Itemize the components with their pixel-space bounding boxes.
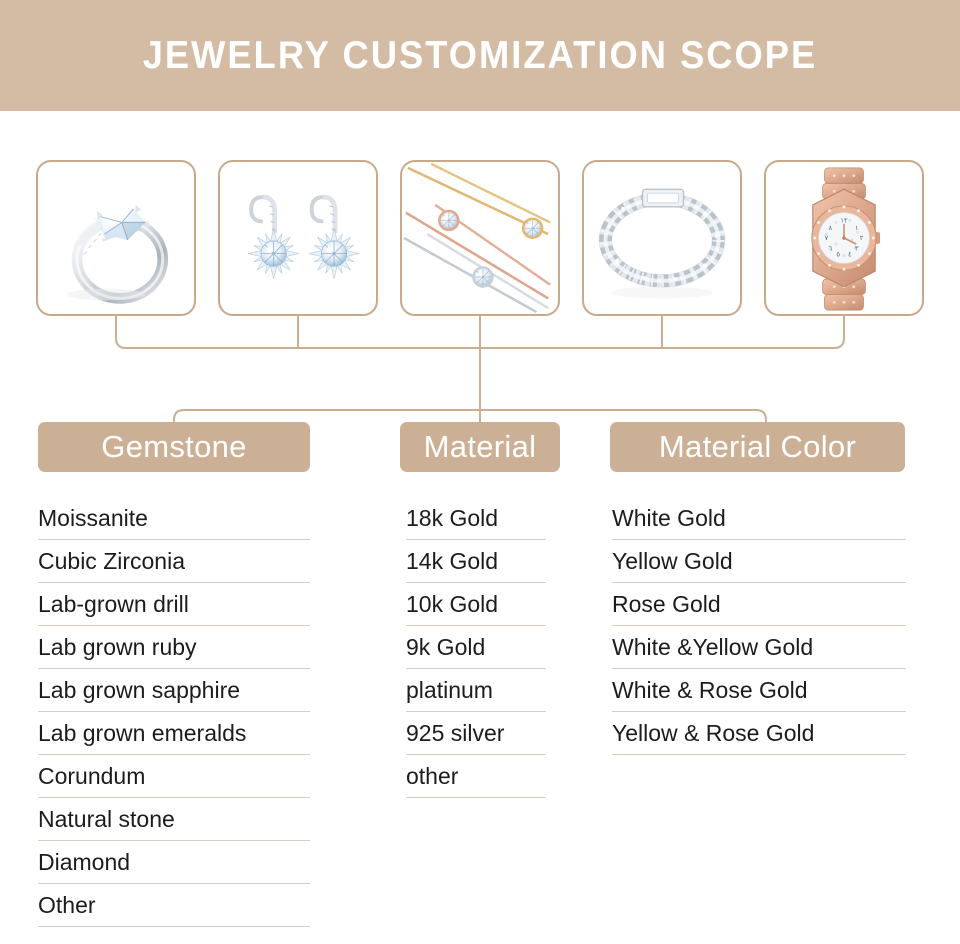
option-item[interactable]: 925 silver — [406, 712, 546, 755]
option-item[interactable]: Corundum — [38, 755, 310, 798]
option-item[interactable]: Yellow Gold — [612, 540, 906, 583]
svg-text:٤: ٤ — [848, 251, 852, 259]
option-list-material-color: White GoldYellow GoldRose GoldWhite &Yel… — [612, 497, 906, 755]
svg-text:٥: ٥ — [836, 251, 840, 259]
option-item[interactable]: White Gold — [612, 497, 906, 540]
option-item[interactable]: Moissanite — [38, 497, 310, 540]
lower-bus — [174, 410, 766, 422]
product-card-ring[interactable] — [36, 160, 196, 316]
svg-text:١٢: ١٢ — [840, 216, 848, 224]
category-header-material-color[interactable]: Material Color — [610, 422, 905, 472]
option-item[interactable]: Lab grown ruby — [38, 626, 310, 669]
option-item[interactable]: 18k Gold — [406, 497, 546, 540]
option-item[interactable]: Yellow & Rose Gold — [612, 712, 906, 755]
option-item[interactable]: Diamond — [38, 841, 310, 884]
option-item[interactable]: Other — [38, 884, 310, 927]
product-card-row: ١٢١٢ ٣٤٥ ٦٧٨ — [0, 160, 960, 316]
page-title: JEWELRY CUSTOMIZATION SCOPE — [34, 0, 927, 111]
product-card-bracelet[interactable] — [582, 160, 742, 316]
svg-text:٨: ٨ — [829, 224, 833, 232]
option-list-gemstone: MoissaniteCubic ZirconiaLab-grown drillL… — [38, 497, 310, 927]
option-item[interactable]: Lab grown sapphire — [38, 669, 310, 712]
option-list-material: 18k Gold14k Gold10k Gold9k Goldplatinum9… — [406, 497, 546, 798]
product-card-watch[interactable]: ١٢١٢ ٣٤٥ ٦٧٨ — [764, 160, 924, 316]
svg-text:١: ١ — [855, 224, 859, 232]
option-item[interactable]: Lab grown emeralds — [38, 712, 310, 755]
option-item[interactable]: Cubic Zirconia — [38, 540, 310, 583]
earrings-icon — [220, 162, 376, 314]
necklace-icon — [402, 162, 558, 314]
product-card-necklaces[interactable] — [400, 160, 560, 316]
option-item[interactable]: White &Yellow Gold — [612, 626, 906, 669]
option-item[interactable]: 14k Gold — [406, 540, 546, 583]
bracelet-icon — [584, 162, 740, 314]
ring-icon — [38, 162, 194, 314]
category-header-material[interactable]: Material — [400, 422, 560, 472]
option-item[interactable]: platinum — [406, 669, 546, 712]
upper-bus — [116, 316, 844, 348]
option-item[interactable]: 9k Gold — [406, 626, 546, 669]
option-item[interactable]: White & Rose Gold — [612, 669, 906, 712]
svg-text:٧: ٧ — [825, 234, 829, 242]
option-item[interactable]: Rose Gold — [612, 583, 906, 626]
product-card-earrings[interactable] — [218, 160, 378, 316]
option-item[interactable]: Lab-grown drill — [38, 583, 310, 626]
watch-icon: ١٢١٢ ٣٤٥ ٦٧٨ — [766, 162, 922, 314]
svg-text:٢: ٢ — [860, 234, 864, 242]
option-item[interactable]: other — [406, 755, 546, 798]
category-header-gemstone[interactable]: Gemstone — [38, 422, 310, 472]
svg-text:٣: ٣ — [855, 245, 859, 253]
option-item[interactable]: Natural stone — [38, 798, 310, 841]
option-item[interactable]: 10k Gold — [406, 583, 546, 626]
svg-text:٦: ٦ — [829, 245, 833, 253]
